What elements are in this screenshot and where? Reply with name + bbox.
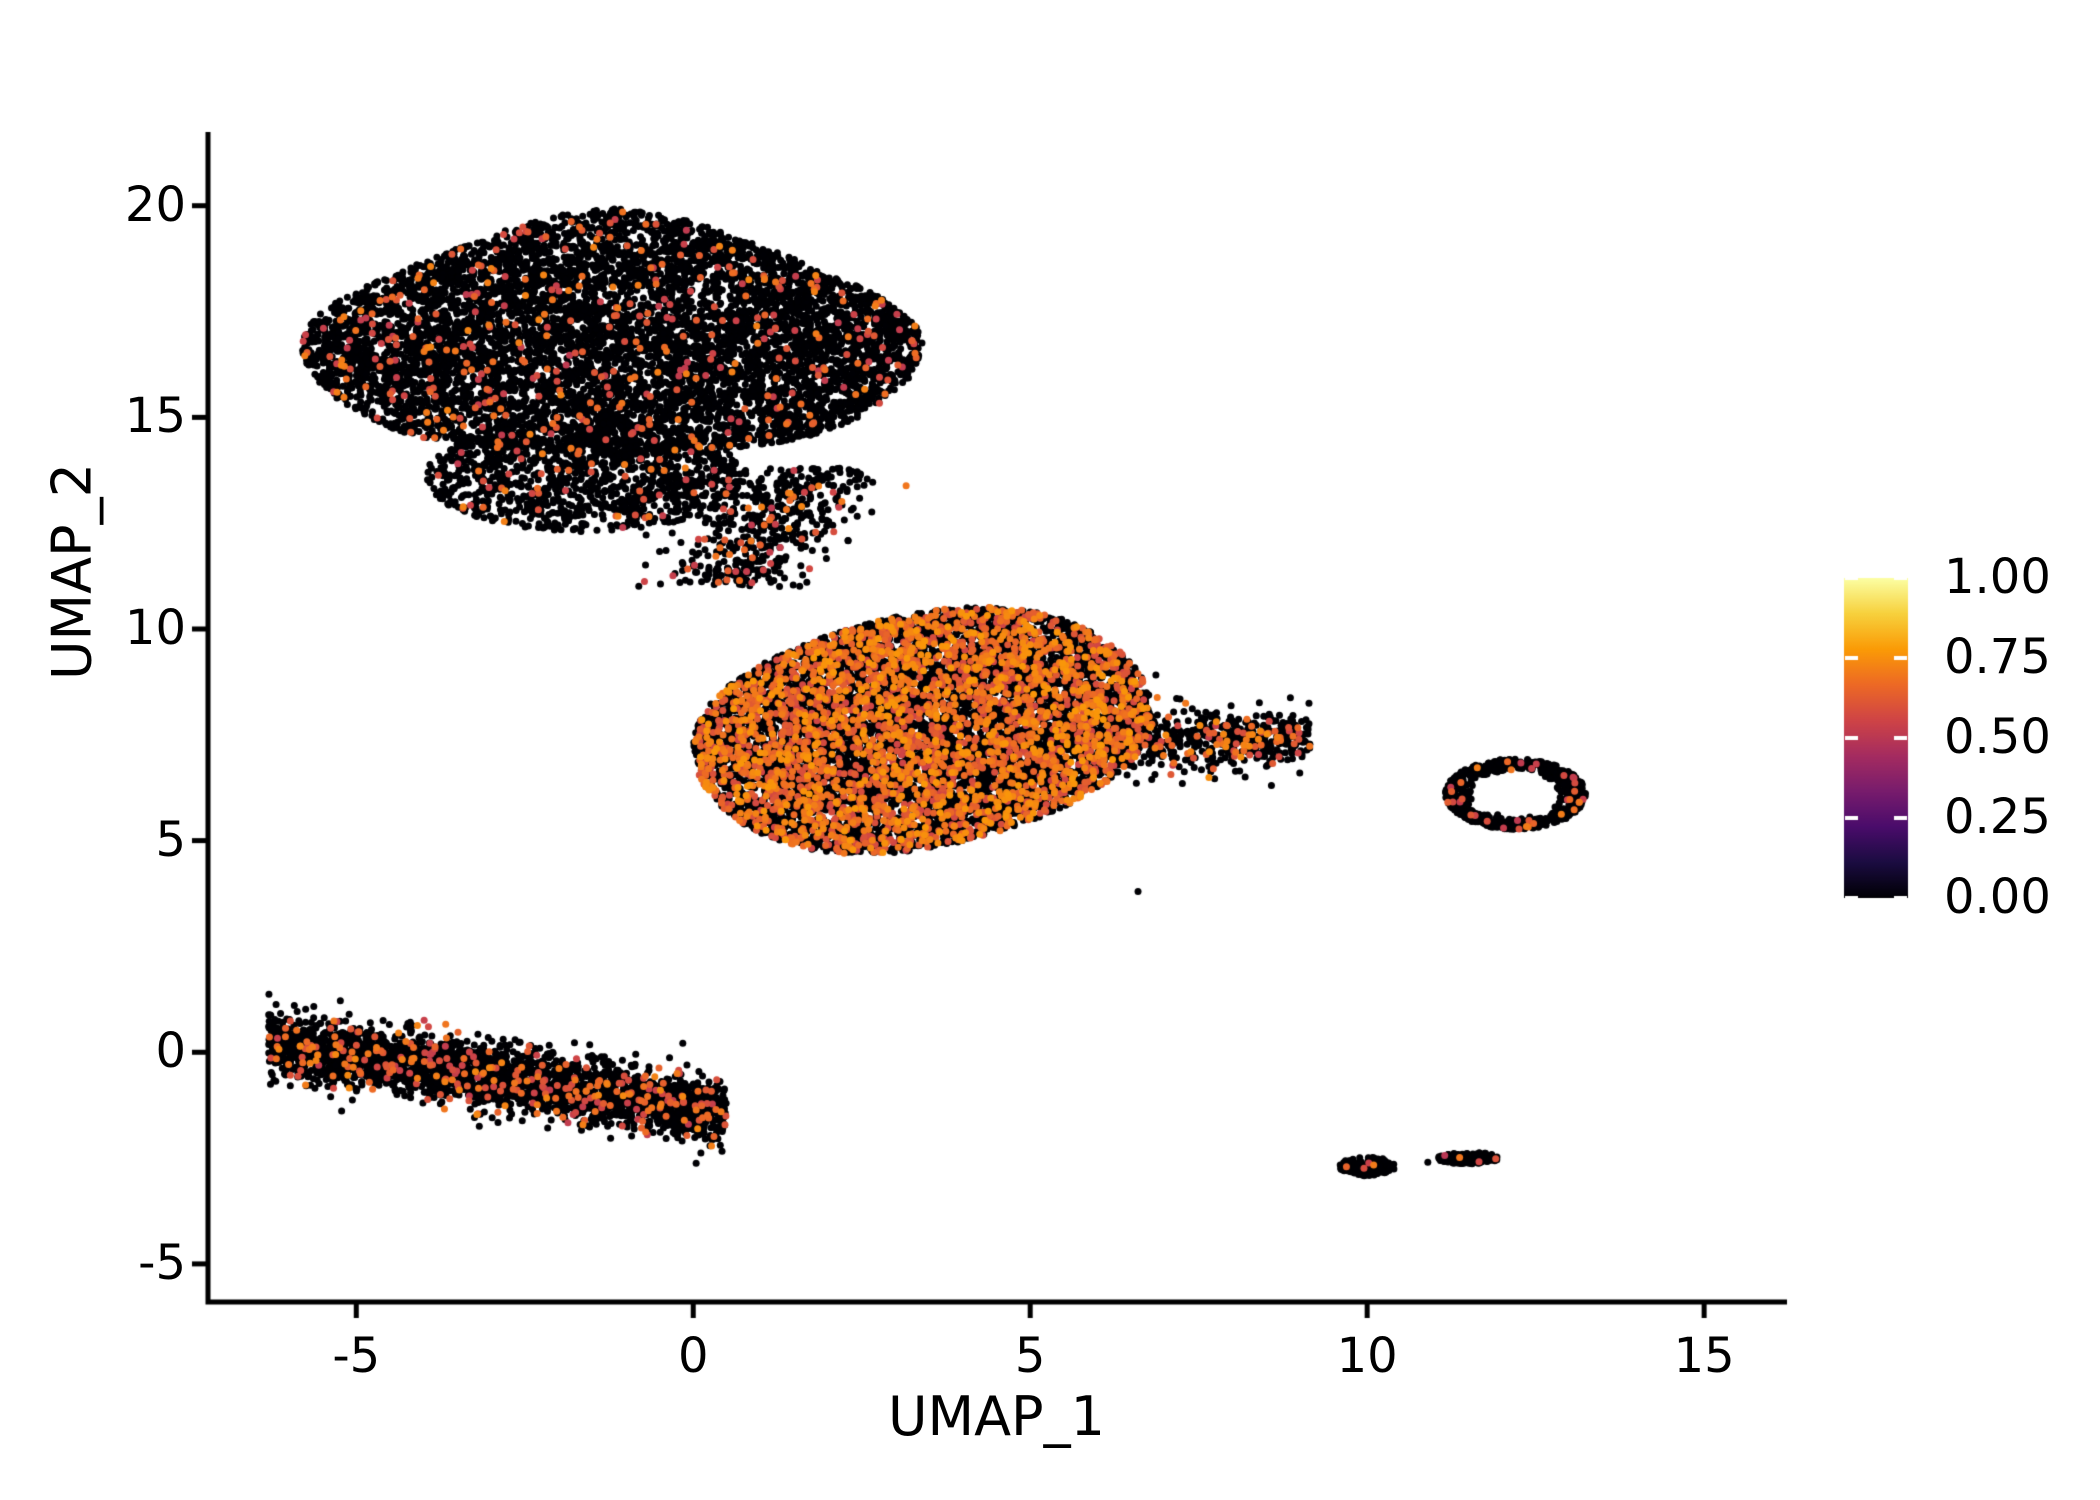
x-axis-label: UMAP_1: [208, 1385, 1785, 1448]
y-tick-label: -5: [138, 1239, 186, 1287]
colorbar-tick-label: 0.50: [1944, 713, 2051, 761]
x-tick-label: 0: [593, 1332, 793, 1380]
x-tick-label: -5: [256, 1332, 456, 1380]
y-tick-label: 15: [125, 392, 186, 440]
x-tick-label: 10: [1267, 1332, 1467, 1380]
y-tick-label: 5: [155, 816, 186, 864]
chart-figure: ARL9 UMAP_2 UMAP_1 -505101520 -5051015 1…: [0, 0, 2100, 1500]
x-tick-label: 15: [1604, 1332, 1804, 1380]
y-axis-label: UMAP_2: [41, 422, 104, 722]
scatter-plot-canvas: [0, 0, 2100, 1500]
y-tick-label: 10: [125, 604, 186, 652]
y-tick-label: 20: [125, 181, 186, 229]
colorbar-tick-label: 0.00: [1944, 873, 2051, 921]
y-tick-label: 0: [155, 1027, 186, 1075]
colorbar-tick-label: 1.00: [1944, 553, 2051, 601]
colorbar-tick-label: 0.25: [1944, 793, 2051, 841]
x-tick-label: 5: [930, 1332, 1130, 1380]
colorbar-tick-label: 0.75: [1944, 633, 2051, 681]
